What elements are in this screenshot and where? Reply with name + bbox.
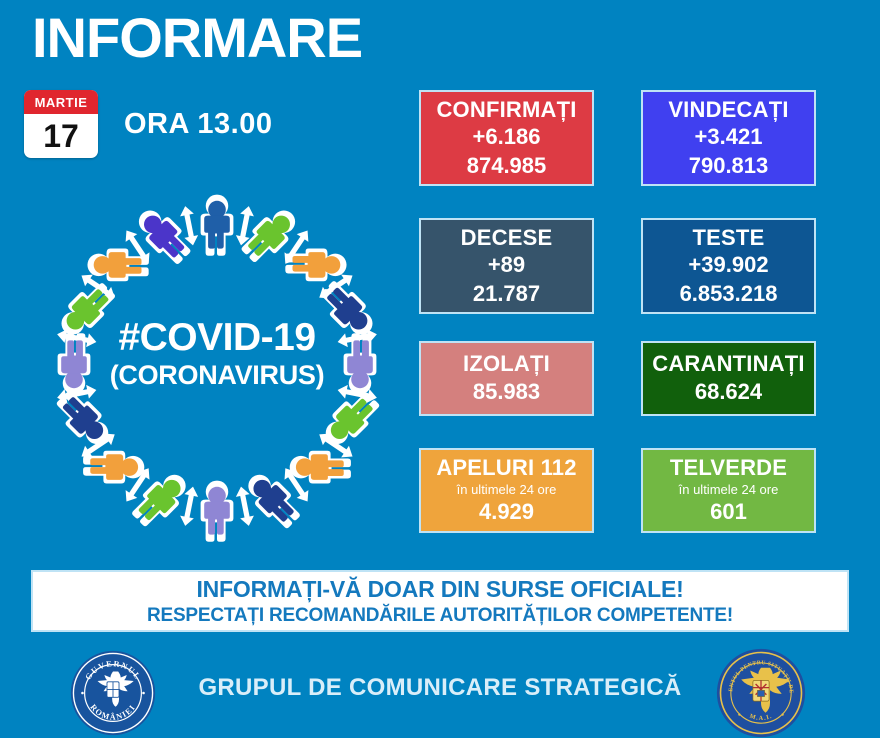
calendar-month: MARTIE: [24, 90, 98, 114]
stat-box-telverde: TELVERDE în ultimele 24 ore 601: [641, 448, 816, 533]
stat-label-telverde: TELVERDE: [670, 454, 787, 482]
stat-sub-telverde: în ultimele 24 ore: [679, 482, 779, 499]
stat-box-carantinati: CARANTINAȚI 68.624: [641, 341, 816, 416]
stat-box-confirmati: CONFIRMAȚI +6.186 874.985: [419, 90, 594, 186]
page-title: INFORMARE: [32, 6, 362, 70]
stat-box-apeluri: APELURI 112 în ultimele 24 ore 4.929: [419, 448, 594, 533]
covid-infographic-poster: INFORMARE MARTIE 17 ORA 13.00: [0, 0, 880, 738]
stat-label-carantinati: CARANTINAȚI: [652, 350, 805, 378]
banner-line-1: INFORMAȚI-VĂ DOAR DIN SURSE OFICIALE!: [196, 575, 683, 604]
stat-label-decese: DECESE: [461, 224, 553, 252]
report-hour: ORA 13.00: [124, 108, 273, 141]
stat-label-confirmati: CONFIRMAȚI: [436, 96, 576, 124]
calendar-icon: MARTIE 17: [24, 90, 98, 158]
stat-delta-teste: +39.902: [688, 251, 768, 280]
stat-total-apeluri: 4.929: [479, 498, 534, 527]
stat-label-vindecati: VINDECAȚI: [668, 96, 788, 124]
stat-box-decese: DECESE +89 21.787: [419, 218, 594, 314]
stat-total-telverde: 601: [710, 498, 747, 527]
circle-graphic-svg: [34, 186, 400, 546]
stat-total-confirmati: 874.985: [467, 152, 547, 181]
calendar-day: 17: [24, 114, 98, 158]
stat-delta-decese: +89: [488, 251, 525, 280]
stat-delta-vindecati: +3.421: [695, 123, 763, 152]
stat-label-apeluri: APELURI 112: [436, 454, 576, 482]
banner-line-2: RESPECTAȚI RECOMANDĂRILE AUTORITĂȚILOR C…: [147, 604, 733, 628]
stat-total-izolati: 85.983: [473, 378, 540, 407]
covid-circle-graphic: #COVID-19 (CORONAVIRUS): [34, 186, 400, 546]
stat-total-decese: 21.787: [473, 280, 540, 309]
stat-sub-apeluri: în ultimele 24 ore: [457, 482, 557, 499]
stat-box-teste: TESTE +39.902 6.853.218: [641, 218, 816, 314]
people-ring: [50, 195, 384, 542]
stat-box-izolati: IZOLAȚI 85.983: [419, 341, 594, 416]
official-sources-banner: INFORMAȚI-VĂ DOAR DIN SURSE OFICIALE! RE…: [31, 570, 849, 632]
stat-label-teste: TESTE: [693, 224, 765, 252]
stat-total-vindecati: 790.813: [689, 152, 769, 181]
stat-total-carantinati: 68.624: [695, 378, 762, 407]
stat-delta-confirmati: +6.186: [473, 123, 541, 152]
stat-total-teste: 6.853.218: [680, 280, 778, 309]
stat-box-vindecati: VINDECAȚI +3.421 790.813: [641, 90, 816, 186]
stat-label-izolati: IZOLAȚI: [463, 350, 550, 378]
dsu-mai-seal-icon: DEPARTAMENTUL PENTRU SITUAȚII DE URGENȚĂ…: [716, 648, 806, 738]
